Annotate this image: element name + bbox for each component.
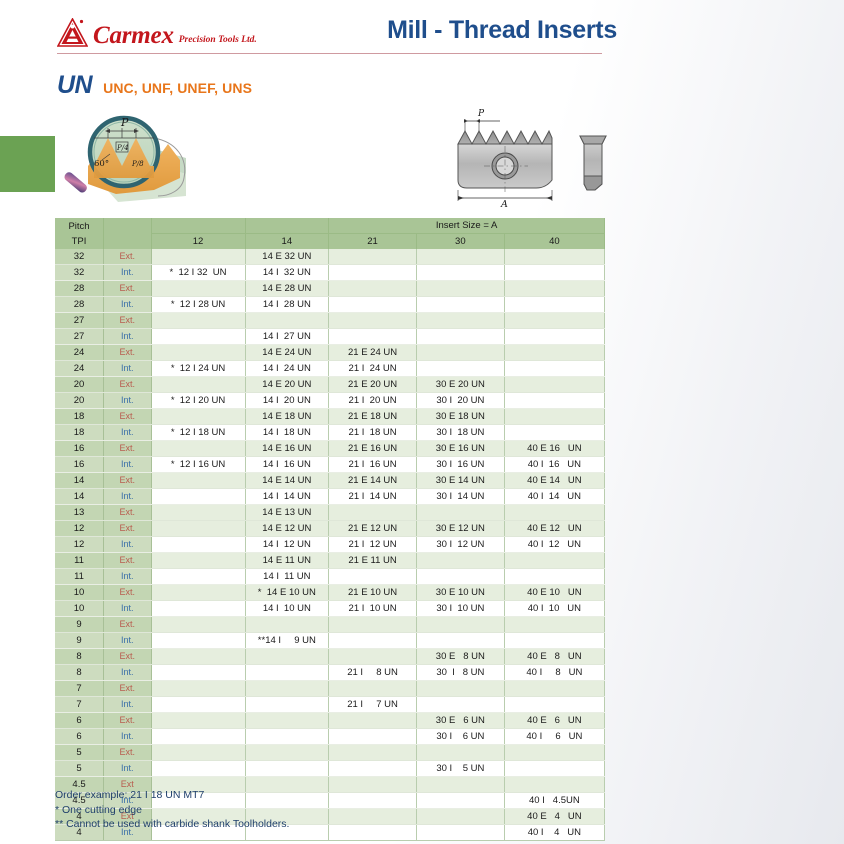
cell-insert-code-12: * 12 I 24 UN bbox=[151, 361, 245, 377]
cell-insert-code-40: 40 I 4.5UN bbox=[504, 793, 604, 809]
cell-insert-code-30: 30 I 5 UN bbox=[416, 761, 504, 777]
cell-insert-code-12 bbox=[151, 537, 245, 553]
cell-insert-code-14 bbox=[245, 617, 329, 633]
table-row: 6Ext.30 E 6 UN40 E 6 UN bbox=[55, 713, 605, 729]
cell-pitch-tpi: 18 bbox=[55, 425, 104, 441]
insert-dimension-diagram: P A bbox=[440, 104, 622, 208]
cell-insert-code-21 bbox=[329, 281, 417, 297]
catalog-page: Carmex Precision Tools Ltd. Mill - Threa… bbox=[0, 0, 844, 844]
cell-pitch-tpi: 7 bbox=[55, 681, 104, 697]
cell-insert-code-14: 14 I 11 UN bbox=[245, 569, 329, 585]
cell-insert-code-12 bbox=[151, 329, 245, 345]
cell-insert-code-30 bbox=[416, 313, 504, 329]
cell-insert-code-14: 14 E 28 UN bbox=[245, 281, 329, 297]
cell-pitch-tpi: 28 bbox=[55, 281, 104, 297]
cell-insert-code-30 bbox=[416, 825, 504, 841]
header-size-30: 30 bbox=[416, 234, 504, 250]
cell-insert-code-14: 14 E 20 UN bbox=[245, 377, 329, 393]
table-row: 5Ext. bbox=[55, 745, 605, 761]
table-row: 24Ext.14 E 24 UN21 E 24 UN bbox=[55, 345, 605, 361]
cell-insert-code-12 bbox=[151, 729, 245, 745]
cell-insert-code-21: 21 E 20 UN bbox=[329, 377, 417, 393]
cell-insert-code-14 bbox=[245, 681, 329, 697]
cell-insert-code-21 bbox=[329, 729, 417, 745]
thread-code: UN bbox=[57, 73, 92, 98]
cell-insert-code-21 bbox=[329, 265, 417, 281]
cell-insert-code-12 bbox=[151, 409, 245, 425]
table-row: 32Int.* 12 I 32 UN14 I 32 UN bbox=[55, 265, 605, 281]
cell-thread-type: Ext. bbox=[104, 473, 152, 489]
cell-insert-code-40 bbox=[504, 777, 604, 793]
cell-insert-code-21 bbox=[329, 761, 417, 777]
cell-insert-code-14 bbox=[245, 729, 329, 745]
cell-pitch-tpi: 7 bbox=[55, 697, 104, 713]
cell-insert-code-30: 30 E 16 UN bbox=[416, 441, 504, 457]
cell-insert-code-21 bbox=[329, 313, 417, 329]
cell-pitch-tpi: 11 bbox=[55, 569, 104, 585]
cell-insert-code-30: 30 E 20 UN bbox=[416, 377, 504, 393]
cell-insert-code-14: 14 I 20 UN bbox=[245, 393, 329, 409]
cell-insert-code-12: * 12 I 28 UN bbox=[151, 297, 245, 313]
cell-insert-code-40 bbox=[504, 313, 604, 329]
cell-insert-code-30 bbox=[416, 633, 504, 649]
cell-insert-code-21: 21 E 10 UN bbox=[329, 585, 417, 601]
cell-thread-type: Int. bbox=[104, 633, 152, 649]
table-row: 27Int.14 I 27 UN bbox=[55, 329, 605, 345]
cell-thread-type: Int. bbox=[104, 665, 152, 681]
table-row: 27Ext. bbox=[55, 313, 605, 329]
cell-insert-code-14: 14 E 13 UN bbox=[245, 505, 329, 521]
cell-insert-code-40: 40 I 8 UN bbox=[504, 665, 604, 681]
table-row: 12Ext.14 E 12 UN21 E 12 UN30 E 12 UN40 E… bbox=[55, 521, 605, 537]
cell-insert-code-14: 14 E 16 UN bbox=[245, 441, 329, 457]
cell-insert-code-14 bbox=[245, 745, 329, 761]
cell-insert-code-30 bbox=[416, 505, 504, 521]
table-row: 5Int.30 I 5 UN bbox=[55, 761, 605, 777]
cell-insert-code-12 bbox=[151, 745, 245, 761]
cell-pitch-tpi: 10 bbox=[55, 601, 104, 617]
cell-thread-type: Ext. bbox=[104, 281, 152, 297]
cell-pitch-tpi: 14 bbox=[55, 489, 104, 505]
cell-insert-code-40 bbox=[504, 761, 604, 777]
cell-thread-type: Ext. bbox=[104, 521, 152, 537]
cell-insert-code-14: 14 E 12 UN bbox=[245, 521, 329, 537]
header-size-40: 40 bbox=[504, 234, 604, 250]
table-row: 7Int.21 I 7 UN bbox=[55, 697, 605, 713]
cell-insert-code-40 bbox=[504, 377, 604, 393]
cell-thread-type: Int. bbox=[104, 537, 152, 553]
cell-insert-code-14: * 14 E 10 UN bbox=[245, 585, 329, 601]
header-size-21: 21 bbox=[329, 234, 417, 250]
table-body: 32Ext.14 E 32 UN32Int.* 12 I 32 UN14 I 3… bbox=[55, 249, 605, 841]
cell-insert-code-30: 30 I 8 UN bbox=[416, 665, 504, 681]
cell-insert-code-30: 30 I 10 UN bbox=[416, 601, 504, 617]
cell-insert-code-21: 21 I 16 UN bbox=[329, 457, 417, 473]
table-row: 10Ext.* 14 E 10 UN21 E 10 UN30 E 10 UN40… bbox=[55, 585, 605, 601]
cell-insert-code-14 bbox=[245, 713, 329, 729]
cell-insert-code-14 bbox=[245, 313, 329, 329]
cell-pitch-tpi: 6 bbox=[55, 713, 104, 729]
cell-insert-code-14: 14 E 14 UN bbox=[245, 473, 329, 489]
cell-insert-code-40: 40 E 16 UN bbox=[504, 441, 604, 457]
cell-thread-type: Ext. bbox=[104, 345, 152, 361]
footnote-single-asterisk: * One cutting edge bbox=[55, 803, 289, 818]
cell-insert-code-14: 14 E 24 UN bbox=[245, 345, 329, 361]
cell-insert-code-21 bbox=[329, 297, 417, 313]
cell-insert-code-14 bbox=[245, 761, 329, 777]
label-60deg: 60° bbox=[94, 159, 109, 169]
cell-pitch-tpi: 9 bbox=[55, 617, 104, 633]
table-row: 18Int.* 12 I 18 UN14 I 18 UN21 I 18 UN30… bbox=[55, 425, 605, 441]
cell-pitch-tpi: 13 bbox=[55, 505, 104, 521]
cell-insert-code-40: 40 I 16 UN bbox=[504, 457, 604, 473]
cell-insert-code-12 bbox=[151, 665, 245, 681]
cell-insert-code-21 bbox=[329, 569, 417, 585]
table-row: 6Int.30 I 6 UN40 I 6 UN bbox=[55, 729, 605, 745]
cell-insert-code-30 bbox=[416, 361, 504, 377]
cell-thread-type: Ext. bbox=[104, 713, 152, 729]
header-size-blank-12 bbox=[151, 218, 245, 234]
cell-insert-code-21: 21 E 11 UN bbox=[329, 553, 417, 569]
cell-insert-code-21: 21 E 12 UN bbox=[329, 521, 417, 537]
cell-insert-code-12 bbox=[151, 681, 245, 697]
cell-insert-code-12 bbox=[151, 377, 245, 393]
cell-insert-code-21 bbox=[329, 777, 417, 793]
cell-insert-code-12 bbox=[151, 313, 245, 329]
label-A-width: A bbox=[500, 199, 508, 208]
cell-thread-type: Int. bbox=[104, 393, 152, 409]
table-row: 7Ext. bbox=[55, 681, 605, 697]
cell-thread-type: Ext. bbox=[104, 505, 152, 521]
cell-insert-code-40 bbox=[504, 569, 604, 585]
cell-thread-type: Int. bbox=[104, 329, 152, 345]
cell-insert-code-12 bbox=[151, 617, 245, 633]
cell-thread-type: Int. bbox=[104, 601, 152, 617]
cell-insert-code-14: 14 I 18 UN bbox=[245, 425, 329, 441]
cell-thread-type: Int. bbox=[104, 425, 152, 441]
cell-insert-code-21 bbox=[329, 633, 417, 649]
cell-insert-code-30: 30 I 12 UN bbox=[416, 537, 504, 553]
table-row: 16Int.* 12 I 16 UN14 I 16 UN21 I 16 UN30… bbox=[55, 457, 605, 473]
cell-pitch-tpi: 5 bbox=[55, 745, 104, 761]
cell-thread-type: Ext. bbox=[104, 649, 152, 665]
cell-pitch-tpi: 11 bbox=[55, 553, 104, 569]
cell-pitch-tpi: 32 bbox=[55, 265, 104, 281]
cell-insert-code-40 bbox=[504, 265, 604, 281]
cell-pitch-tpi: 24 bbox=[55, 361, 104, 377]
cell-insert-code-30: 30 E 14 UN bbox=[416, 473, 504, 489]
cell-insert-code-30 bbox=[416, 281, 504, 297]
cell-insert-code-40 bbox=[504, 345, 604, 361]
header-type bbox=[104, 218, 152, 249]
cell-thread-type: Ext. bbox=[104, 409, 152, 425]
cell-insert-code-21: 21 I 12 UN bbox=[329, 537, 417, 553]
cell-insert-code-30 bbox=[416, 553, 504, 569]
cell-insert-code-14: 14 I 10 UN bbox=[245, 601, 329, 617]
cell-insert-code-30 bbox=[416, 265, 504, 281]
table-row: 20Ext.14 E 20 UN21 E 20 UN30 E 20 UN bbox=[55, 377, 605, 393]
cell-thread-type: Ext. bbox=[104, 377, 152, 393]
label-P-pitch: P bbox=[477, 109, 485, 119]
cell-insert-code-30 bbox=[416, 793, 504, 809]
table-row: 8Ext.30 E 8 UN40 E 8 UN bbox=[55, 649, 605, 665]
cell-insert-code-12 bbox=[151, 505, 245, 521]
cell-insert-code-12: * 12 I 20 UN bbox=[151, 393, 245, 409]
cell-insert-code-12 bbox=[151, 521, 245, 537]
cell-insert-code-40: 40 E 12 UN bbox=[504, 521, 604, 537]
cell-insert-code-30: 30 E 18 UN bbox=[416, 409, 504, 425]
cell-thread-type: Ext. bbox=[104, 585, 152, 601]
cell-insert-code-21 bbox=[329, 713, 417, 729]
cell-insert-code-12 bbox=[151, 249, 245, 265]
cell-insert-code-14 bbox=[245, 649, 329, 665]
cell-pitch-tpi: 27 bbox=[55, 329, 104, 345]
cell-insert-code-40 bbox=[504, 681, 604, 697]
table-row: 8Int.21 I 8 UN30 I 8 UN40 I 8 UN bbox=[55, 665, 605, 681]
table-row: 9Ext. bbox=[55, 617, 605, 633]
cell-thread-type: Int. bbox=[104, 569, 152, 585]
cell-insert-code-30 bbox=[416, 297, 504, 313]
table-row: 9Int.**14 I 9 UN bbox=[55, 633, 605, 649]
thread-standards-list: UNC, UNF, UNEF, UNS bbox=[103, 81, 252, 95]
cell-thread-type: Int. bbox=[104, 761, 152, 777]
cell-insert-code-21: 21 I 14 UN bbox=[329, 489, 417, 505]
cell-insert-code-30: 30 E 10 UN bbox=[416, 585, 504, 601]
cell-insert-code-12 bbox=[151, 633, 245, 649]
cell-insert-code-40: 40 E 10 UN bbox=[504, 585, 604, 601]
header-size-12: 12 bbox=[151, 234, 245, 250]
cell-insert-code-21: 21 E 18 UN bbox=[329, 409, 417, 425]
table-row: 13Ext.14 E 13 UN bbox=[55, 505, 605, 521]
cell-insert-code-21 bbox=[329, 617, 417, 633]
table-row: 28Int.* 12 I 28 UN14 I 28 UN bbox=[55, 297, 605, 313]
cell-insert-code-14 bbox=[245, 665, 329, 681]
cell-insert-code-40 bbox=[504, 393, 604, 409]
cell-insert-code-12 bbox=[151, 569, 245, 585]
cell-insert-code-21 bbox=[329, 249, 417, 265]
cell-pitch-tpi: 24 bbox=[55, 345, 104, 361]
label-P4: P/4 bbox=[116, 144, 129, 152]
cell-insert-code-14: 14 I 27 UN bbox=[245, 329, 329, 345]
cell-insert-code-40 bbox=[504, 633, 604, 649]
cell-insert-code-14: 14 I 12 UN bbox=[245, 537, 329, 553]
cell-thread-type: Ext. bbox=[104, 313, 152, 329]
cell-insert-code-21 bbox=[329, 825, 417, 841]
cell-insert-code-30: 30 I 14 UN bbox=[416, 489, 504, 505]
table-row: 10Int.14 I 10 UN21 I 10 UN30 I 10 UN40 I… bbox=[55, 601, 605, 617]
cell-insert-code-40 bbox=[504, 249, 604, 265]
cell-insert-code-40: 40 E 6 UN bbox=[504, 713, 604, 729]
cell-thread-type: Int. bbox=[104, 361, 152, 377]
cell-insert-code-30: 30 I 18 UN bbox=[416, 425, 504, 441]
cell-insert-code-12: * 12 I 18 UN bbox=[151, 425, 245, 441]
cell-insert-code-30 bbox=[416, 745, 504, 761]
cell-insert-code-12 bbox=[151, 489, 245, 505]
cell-insert-code-21: 21 E 16 UN bbox=[329, 441, 417, 457]
cell-insert-code-21 bbox=[329, 681, 417, 697]
cell-pitch-tpi: 18 bbox=[55, 409, 104, 425]
cell-insert-code-21 bbox=[329, 329, 417, 345]
cell-insert-code-40 bbox=[504, 361, 604, 377]
cell-insert-code-12 bbox=[151, 473, 245, 489]
page-title: Mill - Thread Inserts bbox=[0, 16, 844, 45]
cell-insert-code-21: 21 I 24 UN bbox=[329, 361, 417, 377]
insert-size-table: PitchTPI Insert Size = A 12 14 21 30 40 … bbox=[55, 218, 605, 841]
cell-insert-code-14: 14 I 24 UN bbox=[245, 361, 329, 377]
cell-pitch-tpi: 9 bbox=[55, 633, 104, 649]
cell-pitch-tpi: 12 bbox=[55, 537, 104, 553]
table-row: 28Ext.14 E 28 UN bbox=[55, 281, 605, 297]
cell-insert-code-40 bbox=[504, 745, 604, 761]
cell-insert-code-12: * 12 I 16 UN bbox=[151, 457, 245, 473]
cell-insert-code-30: 30 I 6 UN bbox=[416, 729, 504, 745]
cell-pitch-tpi: 8 bbox=[55, 649, 104, 665]
header-divider bbox=[57, 53, 602, 54]
cell-insert-code-21: 21 I 18 UN bbox=[329, 425, 417, 441]
cell-insert-code-40 bbox=[504, 409, 604, 425]
cell-insert-code-14: 14 I 16 UN bbox=[245, 457, 329, 473]
table-row: 32Ext.14 E 32 UN bbox=[55, 249, 605, 265]
cell-pitch-tpi: 16 bbox=[55, 457, 104, 473]
header-size-14: 14 bbox=[245, 234, 329, 250]
table-row: 14Int.14 I 14 UN21 I 14 UN30 I 14 UN40 I… bbox=[55, 489, 605, 505]
cell-thread-type: Int. bbox=[104, 457, 152, 473]
cell-thread-type: Ext. bbox=[104, 441, 152, 457]
cell-thread-type: Ext. bbox=[104, 249, 152, 265]
cell-insert-code-40: 40 I 10 UN bbox=[504, 601, 604, 617]
cell-pitch-tpi: 20 bbox=[55, 377, 104, 393]
cell-insert-code-21 bbox=[329, 505, 417, 521]
cell-insert-code-21 bbox=[329, 793, 417, 809]
cell-thread-type: Int. bbox=[104, 697, 152, 713]
cell-insert-code-40 bbox=[504, 617, 604, 633]
cell-pitch-tpi: 14 bbox=[55, 473, 104, 489]
cell-thread-type: Ext. bbox=[104, 745, 152, 761]
header-pitch-tpi: PitchTPI bbox=[55, 218, 104, 249]
cell-thread-type: Int. bbox=[104, 297, 152, 313]
cell-insert-code-30 bbox=[416, 697, 504, 713]
cell-pitch-tpi: 10 bbox=[55, 585, 104, 601]
cell-pitch-tpi: 12 bbox=[55, 521, 104, 537]
magnifier-thread-profile-illustration: P P/4 P/8 60° bbox=[58, 104, 206, 208]
cell-thread-type: Ext. bbox=[104, 681, 152, 697]
cell-insert-code-40 bbox=[504, 297, 604, 313]
cell-insert-code-30 bbox=[416, 329, 504, 345]
cell-insert-code-14: 14 E 11 UN bbox=[245, 553, 329, 569]
cell-insert-code-30 bbox=[416, 569, 504, 585]
cell-insert-code-30 bbox=[416, 249, 504, 265]
cell-insert-code-12 bbox=[151, 713, 245, 729]
cell-insert-code-30 bbox=[416, 681, 504, 697]
cell-pitch-tpi: 27 bbox=[55, 313, 104, 329]
cell-insert-code-21: 21 I 7 UN bbox=[329, 697, 417, 713]
table-row: 24Int.* 12 I 24 UN14 I 24 UN21 I 24 UN bbox=[55, 361, 605, 377]
cell-insert-code-40 bbox=[504, 697, 604, 713]
order-example: Order example: 21 I 18 UN MT7 bbox=[55, 788, 289, 803]
cell-pitch-tpi: 5 bbox=[55, 761, 104, 777]
cell-insert-code-12 bbox=[151, 345, 245, 361]
cell-insert-code-40 bbox=[504, 425, 604, 441]
cell-insert-code-12 bbox=[151, 553, 245, 569]
cell-insert-code-12 bbox=[151, 281, 245, 297]
cell-insert-code-14: 14 E 18 UN bbox=[245, 409, 329, 425]
table-row: 18Ext.14 E 18 UN21 E 18 UN30 E 18 UN bbox=[55, 409, 605, 425]
cell-thread-type: Int. bbox=[104, 489, 152, 505]
cell-insert-code-21: 21 E 14 UN bbox=[329, 473, 417, 489]
cell-insert-code-21: 21 I 10 UN bbox=[329, 601, 417, 617]
header-insert-size-span: Insert Size = A bbox=[329, 218, 605, 234]
cell-insert-code-30: 30 I 16 UN bbox=[416, 457, 504, 473]
cell-insert-code-14: 14 I 32 UN bbox=[245, 265, 329, 281]
cell-insert-code-12 bbox=[151, 649, 245, 665]
cell-insert-code-30: 30 E 12 UN bbox=[416, 521, 504, 537]
cell-insert-code-40 bbox=[504, 553, 604, 569]
cell-insert-code-40 bbox=[504, 281, 604, 297]
label-P: P bbox=[120, 116, 129, 129]
cell-insert-code-14 bbox=[245, 697, 329, 713]
cell-insert-code-40: 40 I 12 UN bbox=[504, 537, 604, 553]
cell-insert-code-12 bbox=[151, 441, 245, 457]
cell-thread-type: Int. bbox=[104, 729, 152, 745]
cell-pitch-tpi: 6 bbox=[55, 729, 104, 745]
cell-insert-code-12 bbox=[151, 697, 245, 713]
label-P8: P/8 bbox=[131, 160, 144, 168]
cell-thread-type: Ext. bbox=[104, 617, 152, 633]
thread-standard-heading: UN UNC, UNF, UNEF, UNS bbox=[57, 73, 252, 98]
cell-pitch-tpi: 28 bbox=[55, 297, 104, 313]
table-row: 11Ext.14 E 11 UN21 E 11 UN bbox=[55, 553, 605, 569]
cell-pitch-tpi: 20 bbox=[55, 393, 104, 409]
cell-insert-code-30 bbox=[416, 345, 504, 361]
cell-insert-code-40: 40 E 14 UN bbox=[504, 473, 604, 489]
cell-insert-code-40 bbox=[504, 505, 604, 521]
cell-insert-code-30: 30 E 8 UN bbox=[416, 649, 504, 665]
cell-insert-code-40: 40 E 8 UN bbox=[504, 649, 604, 665]
cell-insert-code-30: 30 I 20 UN bbox=[416, 393, 504, 409]
cell-insert-code-30 bbox=[416, 617, 504, 633]
header-size-blank-14 bbox=[245, 218, 329, 234]
cell-insert-code-21 bbox=[329, 745, 417, 761]
cell-insert-code-21: 21 I 20 UN bbox=[329, 393, 417, 409]
cell-insert-code-40 bbox=[504, 329, 604, 345]
table-row: 16Ext.14 E 16 UN21 E 16 UN30 E 16 UN40 E… bbox=[55, 441, 605, 457]
cell-insert-code-40: 40 I 14 UN bbox=[504, 489, 604, 505]
cell-pitch-tpi: 16 bbox=[55, 441, 104, 457]
cell-pitch-tpi: 32 bbox=[55, 249, 104, 265]
cell-insert-code-30 bbox=[416, 777, 504, 793]
cell-insert-code-14: 14 I 28 UN bbox=[245, 297, 329, 313]
table-header: PitchTPI Insert Size = A 12 14 21 30 40 bbox=[55, 218, 605, 249]
cell-insert-code-40: 40 I 4 UN bbox=[504, 825, 604, 841]
cell-insert-code-14: **14 I 9 UN bbox=[245, 633, 329, 649]
cell-insert-code-21: 21 I 8 UN bbox=[329, 665, 417, 681]
cell-insert-code-12 bbox=[151, 761, 245, 777]
cell-insert-code-14: 14 I 14 UN bbox=[245, 489, 329, 505]
cell-thread-type: Ext. bbox=[104, 553, 152, 569]
table-row: 20Int.* 12 I 20 UN14 I 20 UN21 I 20 UN30… bbox=[55, 393, 605, 409]
cell-thread-type: Int. bbox=[104, 265, 152, 281]
cell-insert-code-12: * 12 I 32 UN bbox=[151, 265, 245, 281]
cell-insert-code-12 bbox=[151, 585, 245, 601]
cell-insert-code-21 bbox=[329, 809, 417, 825]
cell-insert-code-21: 21 E 24 UN bbox=[329, 345, 417, 361]
section-color-tab bbox=[0, 136, 55, 192]
footnote-double-asterisk: ** Cannot be used with carbide shank Too… bbox=[55, 817, 289, 832]
footnotes: Order example: 21 I 18 UN MT7 * One cutt… bbox=[55, 788, 289, 832]
table-row: 11Int.14 I 11 UN bbox=[55, 569, 605, 585]
cell-insert-code-30: 30 E 6 UN bbox=[416, 713, 504, 729]
cell-insert-code-12 bbox=[151, 601, 245, 617]
